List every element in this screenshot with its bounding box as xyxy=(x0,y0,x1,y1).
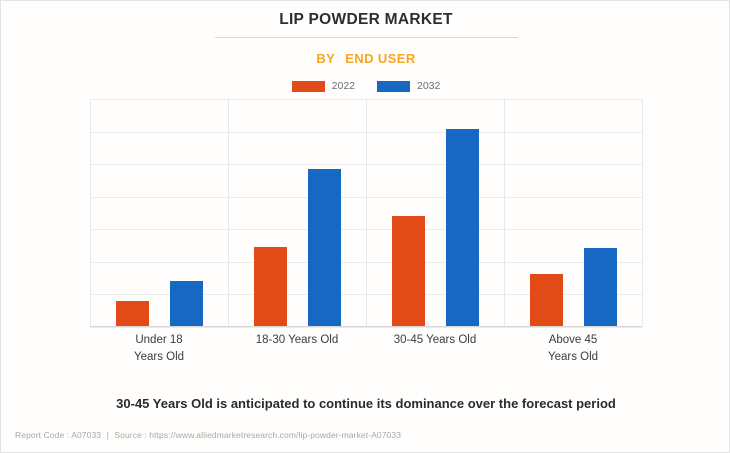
x-axis-labels: Under 18Years Old18-30 Years Old30-45 Ye… xyxy=(90,332,642,366)
footer-separator: | xyxy=(104,430,112,440)
x-axis-label: Above 45Years Old xyxy=(504,332,642,366)
bar-group xyxy=(504,99,642,327)
gridline xyxy=(90,327,642,328)
bar-chart-plot-area xyxy=(90,99,642,327)
chart-caption: 30-45 Years Old is anticipated to contin… xyxy=(1,396,730,411)
bar-2032[interactable] xyxy=(170,281,203,327)
title-divider xyxy=(215,37,518,38)
x-axis-label: Under 18Years Old xyxy=(90,332,228,366)
x-axis-label: 30-45 Years Old xyxy=(366,332,504,366)
x-axis-label-line: Above 45 xyxy=(504,332,642,349)
x-axis-label-line: Years Old xyxy=(504,349,642,366)
footer-meta: Report Code : A07033 | Source : https://… xyxy=(15,430,401,440)
x-axis-label-line: Years Old xyxy=(90,349,228,366)
page-title: LIP POWDER MARKET xyxy=(1,11,730,29)
report-code: Report Code : A07033 xyxy=(15,430,101,440)
chart-subtitle: BY END USER xyxy=(1,51,730,66)
bar-group xyxy=(228,99,366,327)
legend-swatch-2032 xyxy=(377,81,410,92)
bar-2032[interactable] xyxy=(584,248,617,327)
legend-item-2032[interactable]: 2032 xyxy=(377,80,440,92)
legend-label-2022: 2022 xyxy=(332,80,355,92)
bar-2022[interactable] xyxy=(392,216,425,327)
chart-legend: 2022 2032 xyxy=(1,80,730,92)
bar-group xyxy=(366,99,504,327)
x-axis-label-line: Under 18 xyxy=(90,332,228,349)
bar-2022[interactable] xyxy=(116,301,149,327)
category-divider xyxy=(642,99,643,327)
subtitle-prefix: BY xyxy=(316,51,335,66)
x-axis-line xyxy=(90,326,642,327)
bar-2032[interactable] xyxy=(446,129,479,327)
bar-2022[interactable] xyxy=(254,247,287,327)
bar-group xyxy=(90,99,228,327)
x-axis-label-line: 18-30 Years Old xyxy=(228,332,366,349)
x-axis-label: 18-30 Years Old xyxy=(228,332,366,366)
bar-2022[interactable] xyxy=(530,274,563,327)
bar-2032[interactable] xyxy=(308,169,341,327)
x-axis-label-line: 30-45 Years Old xyxy=(366,332,504,349)
source-link[interactable]: Source : https://www.alliedmarketresearc… xyxy=(114,430,401,440)
legend-swatch-2022 xyxy=(292,81,325,92)
lip-powder-market-infographic: LIP POWDER MARKET BY END USER 2022 2032 … xyxy=(0,0,730,453)
subtitle-main: END USER xyxy=(345,51,415,66)
legend-item-2022[interactable]: 2022 xyxy=(292,80,355,92)
bar-groups xyxy=(90,99,642,327)
legend-label-2032: 2032 xyxy=(417,80,440,92)
